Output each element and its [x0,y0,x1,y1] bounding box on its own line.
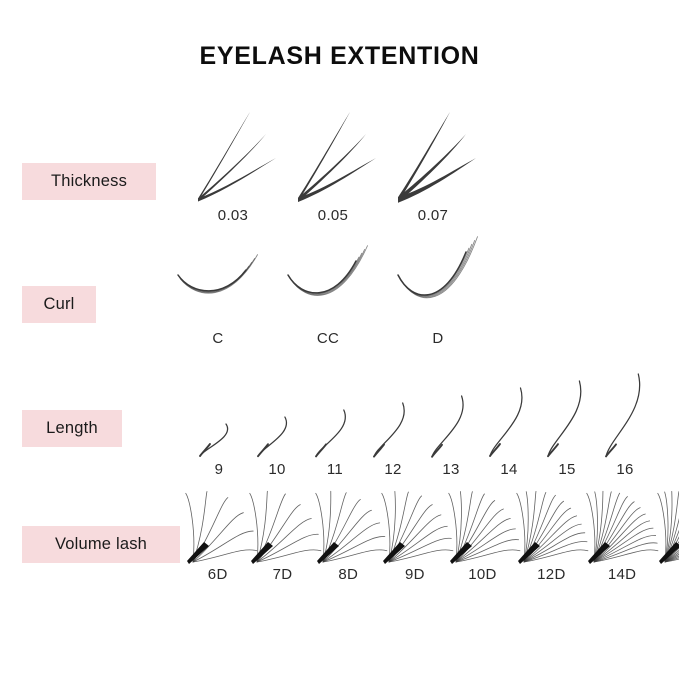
lash-volume-fan-icon [186,488,249,566]
lash-single-strand-icon [482,386,536,462]
sample-caption: 12D [537,567,565,582]
sample-thickness-0.03: 0.03 [188,108,278,223]
lash-volume-fan-icon [316,488,381,566]
sample-caption: 11 [327,462,343,477]
lash-fan-3-strand-icon [288,108,378,206]
sample-caption: 8D [338,567,358,582]
row-volume: Volume lash 6D7D8D9D10D12D14D16D [0,488,679,608]
category-label-length: Length [22,410,122,447]
sample-volume-12D: 12D [517,488,586,582]
sample-caption: 9D [405,567,425,582]
lash-volume-fan-icon [250,488,314,566]
lash-curl-icon [172,245,264,325]
sample-caption: 0.07 [418,208,448,223]
sample-caption: 12 [384,462,401,477]
row-curl: Curl CCCD [0,245,679,360]
lash-single-strand-icon [308,408,362,462]
sample-length-10: 10 [250,415,304,477]
sample-volume-9D: 9D [382,488,448,582]
sample-caption: 6D [208,567,228,582]
sample-volume-8D: 8D [316,488,381,582]
sample-caption: 9 [215,462,224,477]
lash-volume-fan-icon [658,488,679,566]
row-thickness: Thickness 0.030.050.07 [0,108,679,238]
lash-single-strand-icon [598,372,652,462]
lash-fan-3-strand-icon [188,108,278,206]
sample-curl-D: D [392,245,484,346]
sample-caption: 7D [273,567,293,582]
sample-caption: D [432,331,443,346]
sample-caption: CC [317,331,339,346]
sample-length-12: 12 [366,401,420,478]
sample-caption: 0.05 [318,208,348,223]
sample-volume-6D: 6D [186,488,249,582]
sample-caption: C [212,331,223,346]
lash-volume-fan-icon [449,488,516,566]
sample-volume-10D: 10D [449,488,516,582]
sample-length-16: 16 [598,372,652,477]
samples-length: 910111213141516 [192,372,652,477]
sample-volume-7D: 7D [250,488,314,582]
sample-length-15: 15 [540,379,594,477]
sample-caption: 15 [558,462,575,477]
samples-volume: 6D7D8D9D10D12D14D16D [186,488,679,582]
samples-thickness: 0.030.050.07 [188,108,478,223]
category-label-curl: Curl [22,286,96,323]
lash-fan-3-strand-icon [388,108,478,206]
lash-curl-icon [392,245,484,325]
lash-volume-fan-icon [587,488,658,566]
sample-volume-14D: 14D [587,488,658,582]
sample-curl-C: C [172,245,264,346]
samples-curl: CCCD [172,245,484,346]
sample-length-13: 13 [424,394,478,478]
lash-volume-fan-icon [517,488,586,566]
lash-single-strand-icon [192,422,246,462]
category-label-volume: Volume lash [22,526,180,563]
sample-caption: 14D [608,567,636,582]
sample-caption: 14 [500,462,517,477]
sample-caption: 0.03 [218,208,248,223]
sample-caption: 13 [442,462,459,477]
sample-length-9: 9 [192,422,246,477]
lash-curl-icon [282,245,374,325]
sample-length-11: 11 [308,408,362,477]
page-title: EYELASH EXTENTION [0,42,679,71]
sample-caption: 10 [268,462,285,477]
lash-volume-fan-icon [382,488,448,566]
lash-single-strand-icon [424,394,478,463]
category-label-thickness: Thickness [22,163,156,200]
sample-caption: 16 [616,462,633,477]
sample-volume-16D: 16D [658,488,679,582]
sample-curl-CC: CC [282,245,374,346]
sample-thickness-0.07: 0.07 [388,108,478,223]
sample-thickness-0.05: 0.05 [288,108,378,223]
sample-length-14: 14 [482,386,536,477]
lash-single-strand-icon [250,415,304,462]
lash-single-strand-icon [366,401,420,463]
lash-single-strand-icon [540,379,594,462]
eyelash-extension-chart: EYELASH EXTENTION Thickness 0.030.050.07… [0,0,679,679]
row-length: Length 910111213141516 [0,372,679,482]
sample-caption: 10D [468,567,496,582]
